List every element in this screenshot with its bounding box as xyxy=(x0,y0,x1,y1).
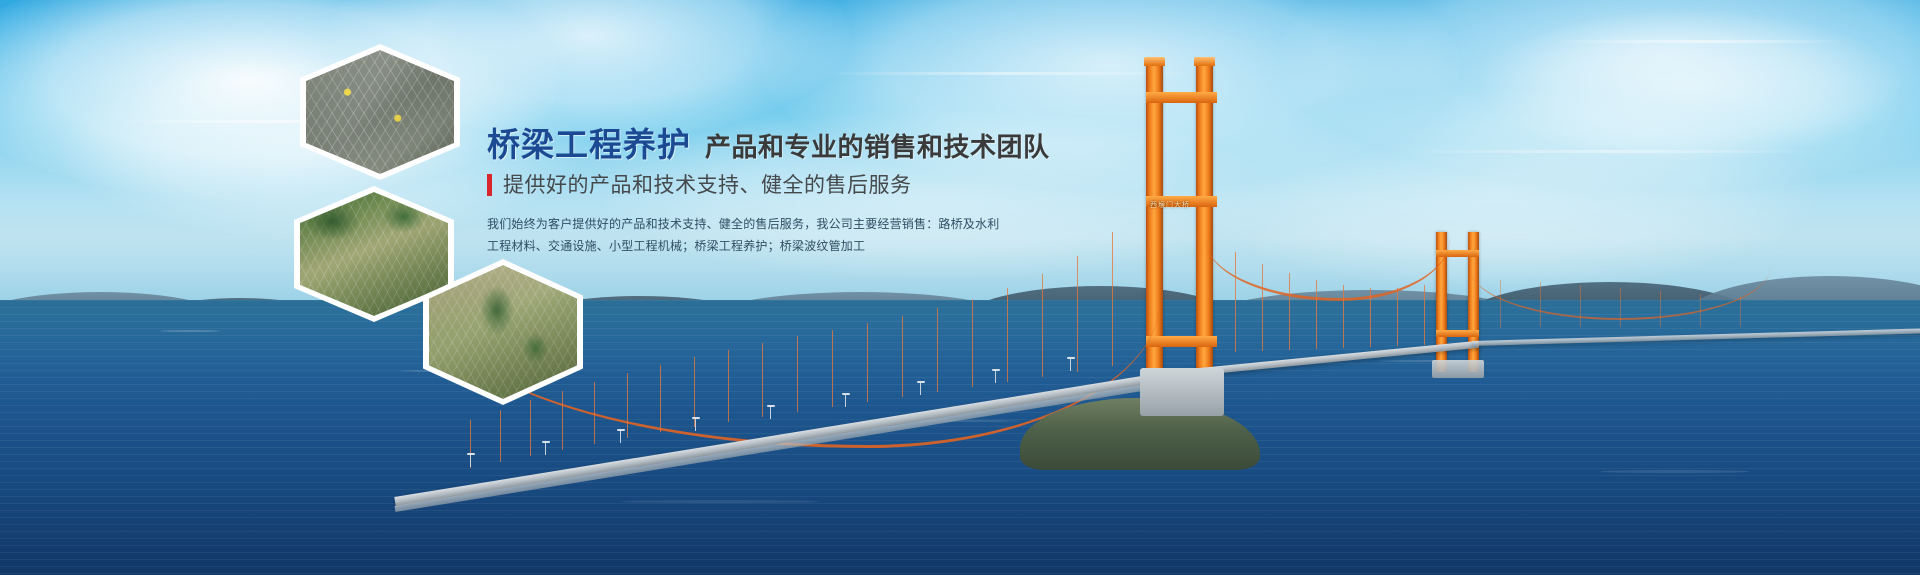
hero-banner: 西堠门大桥 桥梁工程养护 产品和专业的销售和技术团队 提供好的产品和技术支持、健… xyxy=(0,0,1920,575)
banner-copy: 桥梁工程养护 产品和专业的销售和技术团队 提供好的产品和技术支持、健全的售后服务… xyxy=(487,128,1107,257)
headline-primary: 桥梁工程养护 xyxy=(487,128,691,161)
banner-headline: 桥梁工程养护 产品和专业的销售和技术团队 xyxy=(487,128,1107,161)
paragraph-line-1: 我们始终为客户提供好的产品和技术支持、健全的售后服务，我公司主要经营销售：路桥及… xyxy=(487,213,1107,235)
red-accent-bar xyxy=(487,174,492,196)
banner-subheadline: 提供好的产品和技术支持、健全的售后服务 xyxy=(487,174,1107,196)
headline-secondary: 产品和专业的销售和技术团队 xyxy=(705,134,1050,160)
subheadline-text: 提供好的产品和技术支持、健全的售后服务 xyxy=(503,175,912,196)
paragraph-line-2: 工程材料、交通设施、小型工程机械；桥梁工程养护；桥梁波纹管加工 xyxy=(487,235,1107,257)
hex-photo-cluster xyxy=(0,0,1920,575)
banner-paragraph: 我们始终为客户提供好的产品和技术支持、健全的售后服务，我公司主要经营销售：路桥及… xyxy=(487,213,1107,257)
